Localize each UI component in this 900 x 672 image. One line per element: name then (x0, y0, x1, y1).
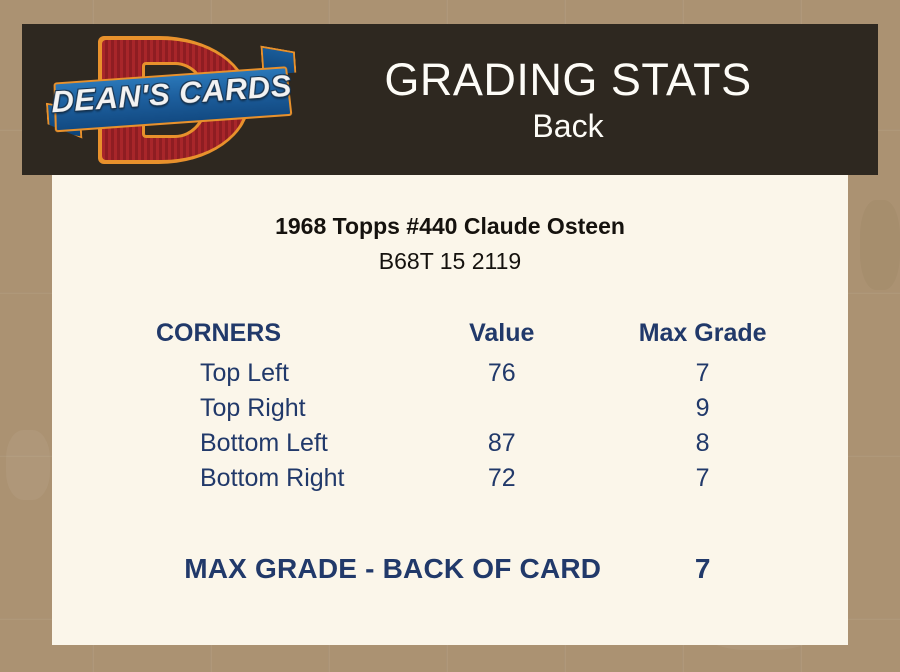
row-value-top-right (402, 391, 601, 426)
row-label-bottom-left: Bottom Left (52, 426, 402, 461)
page-subtitle: Back (298, 107, 838, 145)
table-header: CORNERS Value Max Grade (52, 316, 848, 356)
header-bar: DEAN'S CARDS GRADING STATS Back (22, 24, 878, 175)
background-watermark-blob (6, 430, 50, 500)
corners-stats-table: CORNERS Value Max Grade Top Left 76 7 To… (52, 316, 848, 496)
row-value-bottom-right: 72 (402, 461, 601, 496)
table-header-row: CORNERS Value Max Grade (52, 316, 848, 356)
page-title: GRADING STATS (298, 55, 838, 105)
row-max-grade-top-right: 9 (601, 391, 848, 426)
column-header-value: Value (402, 316, 601, 356)
max-grade-summary-row: MAX GRADE - BACK OF CARD 7 (52, 553, 848, 585)
table-row: Bottom Right 72 7 (52, 461, 848, 496)
table-body: Top Left 76 7 Top Right 9 Bottom Left 87… (52, 356, 848, 496)
max-grade-summary-value: 7 (601, 553, 848, 585)
content-panel: 1968 Topps #440 Claude Osteen B68T 15 21… (52, 175, 848, 645)
row-label-top-left: Top Left (52, 356, 402, 391)
row-value-bottom-left: 87 (402, 426, 601, 461)
table-row: Bottom Left 87 8 (52, 426, 848, 461)
row-max-grade-bottom-left: 8 (601, 426, 848, 461)
max-grade-summary-label: MAX GRADE - BACK OF CARD (52, 553, 601, 585)
row-label-bottom-right: Bottom Right (52, 461, 402, 496)
table-row: Top Left 76 7 (52, 356, 848, 391)
background-watermark-blob (860, 200, 900, 290)
row-label-top-right: Top Right (52, 391, 402, 426)
column-header-corners: CORNERS (52, 316, 402, 356)
row-max-grade-bottom-right: 7 (601, 461, 848, 496)
table-row: Top Right 9 (52, 391, 848, 426)
header-title-group: GRADING STATS Back (298, 55, 878, 145)
card-title: 1968 Topps #440 Claude Osteen (52, 213, 848, 240)
row-value-top-left: 76 (402, 356, 601, 391)
logo-ribbon-banner: DEAN'S CARDS (44, 63, 299, 136)
card-identifier: B68T 15 2119 (52, 248, 848, 275)
deans-cards-logo[interactable]: DEAN'S CARDS (46, 32, 298, 167)
grading-stats-page: DEAN'S CARDS GRADING STATS Back 1968 Top… (0, 0, 900, 672)
column-header-max-grade: Max Grade (601, 316, 848, 356)
row-max-grade-top-left: 7 (601, 356, 848, 391)
